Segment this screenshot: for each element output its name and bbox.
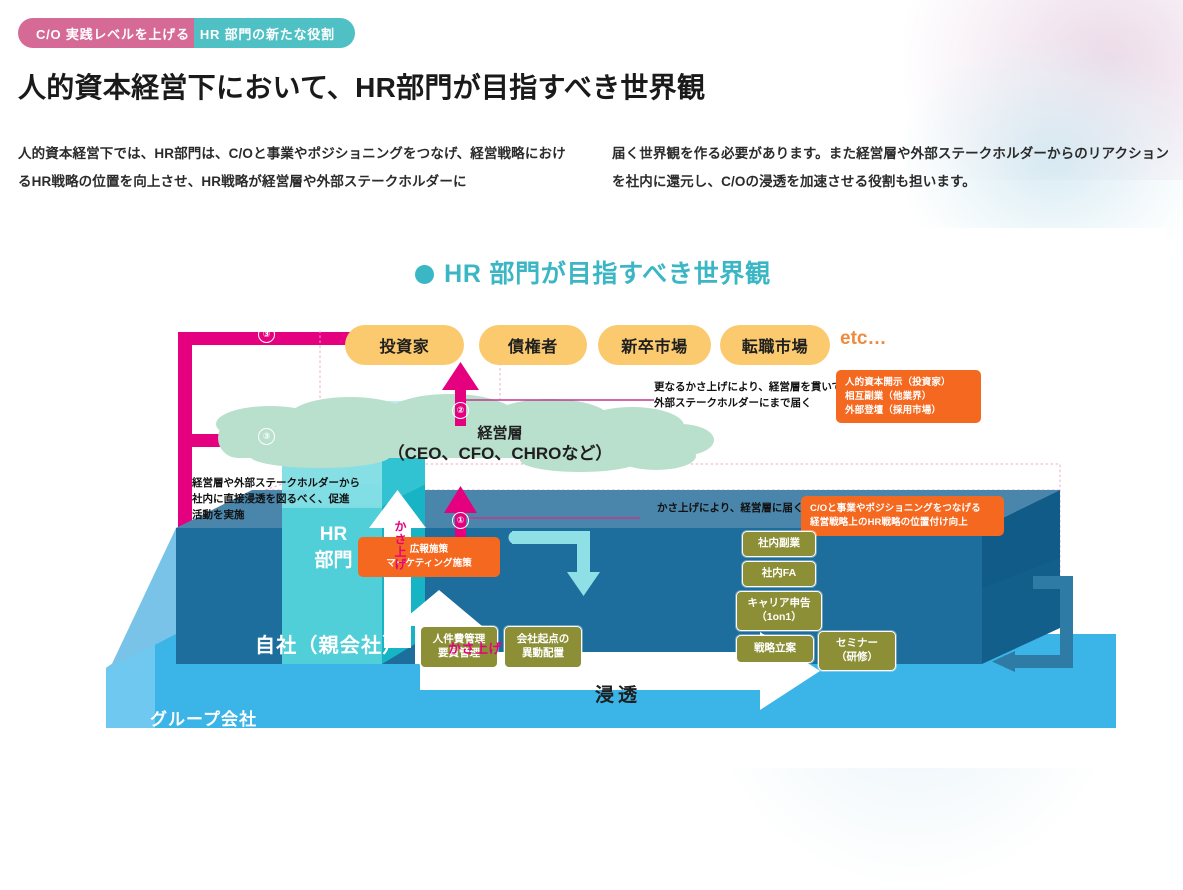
kasaage-horizontal-label: かさ上げ	[448, 638, 502, 657]
management-cloud-line1: 経営層	[350, 424, 650, 443]
lead-paragraph-left: 人的資本経営下では、HR部門は、C/Oと事業やポジショニングをつなげ、経営戦略に…	[18, 140, 578, 195]
annotation-left: 経営層や外部ステークホルダーから 社内に直接浸透を図るべく、促進 活動を実施	[192, 476, 422, 523]
annotation-top-right-line2: 外部ステークホルダーにまで届く	[654, 396, 864, 412]
stakeholder-etc-label: etc…	[840, 328, 886, 350]
orange-box-middle-right-line1: C/Oと事業やポジショニングをつなげる	[810, 502, 995, 516]
badge-right-text: HR 部門の新たな役割	[194, 18, 355, 48]
orange-box-top-right-line1: 人的資本開示（投資家）	[845, 376, 972, 390]
orange-box-promotion: 広報施策 マーケティング施策	[358, 537, 500, 577]
olive-box-career-declaration[interactable]: キャリア申告 （1on1）	[736, 591, 822, 631]
stakeholder-pill-midcareer-market[interactable]: 転職市場	[720, 325, 830, 365]
stakeholder-pill-creditor[interactable]: 債権者	[479, 325, 587, 365]
olive-box-seminar-line1: セミナー	[836, 637, 878, 651]
annotation-left-line3: 活動を実施	[192, 508, 422, 524]
olive-box-strategy-planning[interactable]: 戦略立案	[736, 635, 814, 663]
management-cloud-label: 経営層 （CEO、CFO、CHROなど）	[350, 424, 650, 465]
olive-box-internal-fa-line1: 社内FA	[762, 567, 796, 581]
stakeholder-pill-newgrad-market[interactable]: 新卒市場	[598, 325, 711, 365]
step-marker-one: ①	[452, 512, 469, 529]
orange-box-middle-right: C/Oと事業やポジショニングをつなげる 経営戦略上のHR戦略の位置付け向上	[801, 496, 1004, 536]
own-company-label: 自社（親会社）	[255, 629, 403, 658]
olive-box-internal-side-job-line1: 社内副業	[758, 537, 800, 551]
olive-box-transfer-placement-line2: 異動配置	[517, 647, 570, 661]
olive-box-career-declaration-line2: （1on1）	[748, 611, 811, 625]
orange-box-promotion-line2: マーケティング施策	[367, 557, 491, 571]
annotation-left-line2: 社内に直接浸透を図るべく、促進	[192, 492, 422, 508]
badge-left-text: C/O 実践レベルを上げる	[18, 18, 194, 48]
annotation-top-right: 更なるかさ上げにより、経営層を貫いて 外部ステークホルダーにまで届く	[654, 380, 864, 412]
olive-box-seminar[interactable]: セミナー （研修）	[818, 631, 896, 671]
shintou-label: 浸透	[595, 680, 641, 707]
orange-box-top-right-line3: 外部登壇（採用市場）	[845, 404, 972, 418]
lead-paragraph-right: 届く世界観を作る必要があります。また経営層や外部ステークホルダーからのリアクショ…	[612, 140, 1172, 195]
annotation-top-right-line1: 更なるかさ上げにより、経営層を貫いて	[654, 380, 864, 396]
hr-department-line2: 部門	[291, 548, 376, 574]
olive-box-internal-fa[interactable]: 社内FA	[742, 561, 816, 587]
olive-box-transfer-placement[interactable]: 会社起点の 異動配置	[504, 626, 582, 668]
step-marker-three-top: ③	[258, 326, 275, 343]
olive-box-strategy-planning-line1: 戦略立案	[754, 642, 796, 656]
olive-box-transfer-placement-line1: 会社起点の	[517, 633, 570, 647]
olive-box-seminar-line2: （研修）	[836, 651, 878, 665]
orange-box-top-right: 人的資本開示（投資家） 相互副業（他業界） 外部登壇（採用市場）	[836, 370, 981, 423]
page-title: 人的資本経営下において、HR部門が目指すべき世界観	[18, 66, 705, 106]
hr-department-label: HR 部門	[291, 522, 376, 573]
group-company-label: グループ会社	[150, 705, 257, 730]
section-badge: C/O 実践レベルを上げる HR 部門の新たな役割	[18, 18, 355, 48]
management-cloud-line2: （CEO、CFO、CHROなど）	[350, 443, 650, 465]
olive-box-career-declaration-line1: キャリア申告	[748, 597, 811, 611]
orange-box-middle-right-line2: 経営戦略上のHR戦略の位置付け向上	[810, 516, 995, 530]
step-marker-two: ②	[452, 402, 469, 419]
annotation-left-line1: 経営層や外部ステークホルダーから	[192, 476, 422, 492]
diagram-card: HR 部門が目指すべき世界観	[20, 228, 1166, 768]
hr-department-line1: HR	[291, 522, 376, 548]
orange-box-promotion-line1: 広報施策	[367, 543, 491, 557]
step-marker-three-mid: ③	[258, 428, 275, 445]
olive-box-internal-side-job[interactable]: 社内副業	[742, 531, 816, 557]
orange-box-top-right-line2: 相互副業（他業界）	[845, 390, 972, 404]
stakeholder-pill-investor[interactable]: 投資家	[345, 325, 464, 365]
kasaage-vertical-label: かさ上げ	[392, 520, 409, 571]
